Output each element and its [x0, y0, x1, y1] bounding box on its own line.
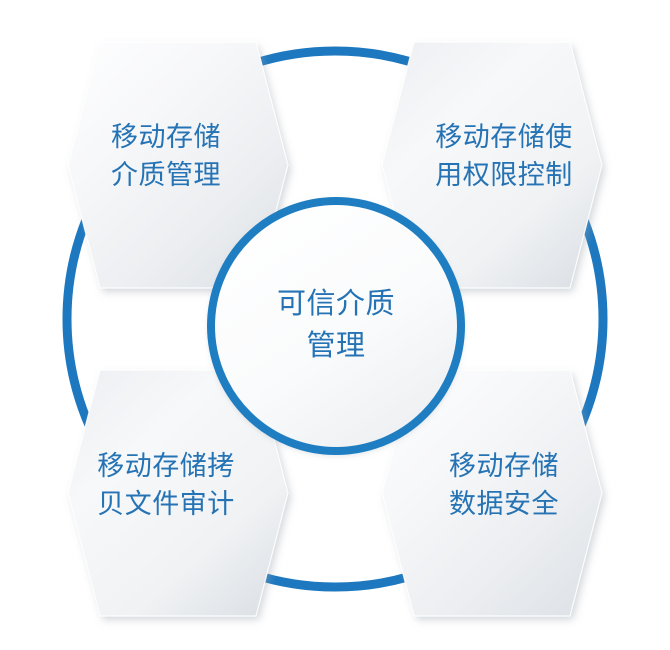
center-circle-layer	[0, 0, 670, 650]
diagram-canvas: 移动存储 介质管理 移动存储使 用权限控制 移动存储拷 贝文件审计 移动存储 数…	[0, 0, 670, 650]
center-hub[interactable]	[208, 198, 464, 454]
